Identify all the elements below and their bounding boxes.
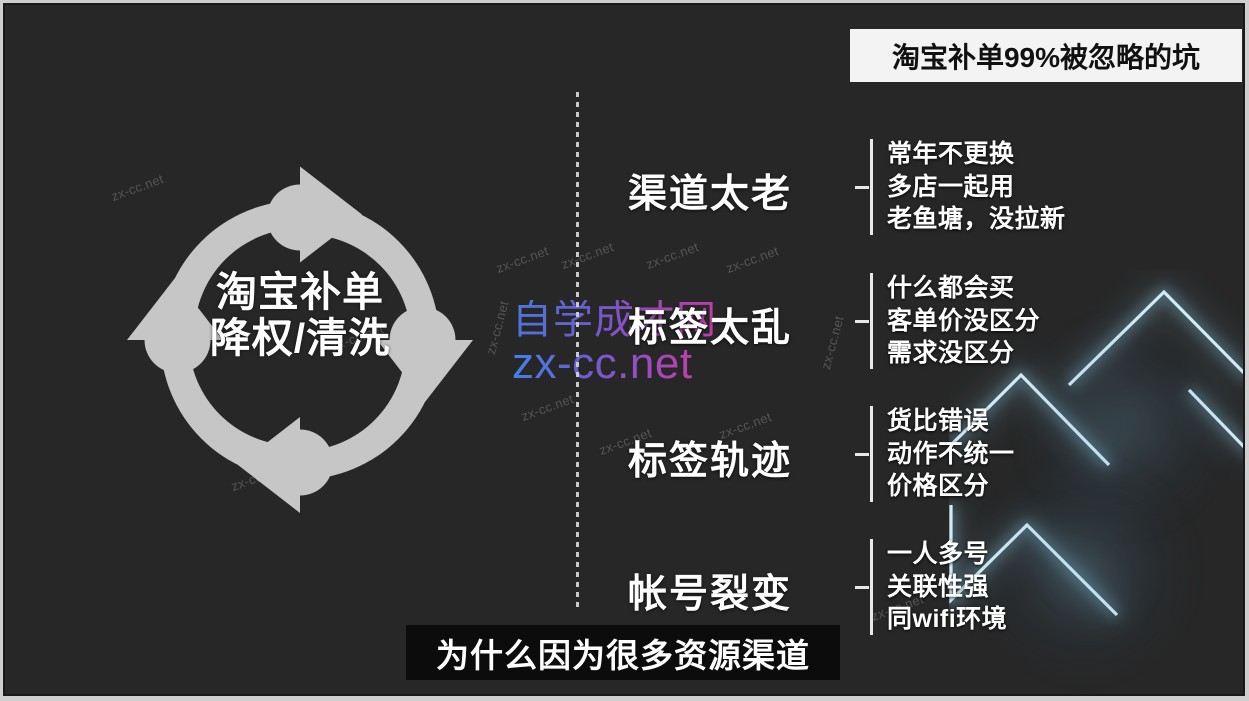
watermark-tile: zx-cc.net <box>559 239 616 272</box>
slide-canvas: zx-cc.netzx-cc.netzx-cc.netzx-cc.netzx-c… <box>0 0 1249 701</box>
detail-line-1: 什么都会买 <box>887 272 1040 305</box>
category-label-4: 帐号裂变 <box>628 563 792 619</box>
bracket-icon <box>855 539 877 635</box>
detail-group-2: 什么都会买客单价没区分需求没区分 <box>855 272 1040 370</box>
detail-group-3: 货比错误动作不统一价格区分 <box>855 405 1015 503</box>
detail-line-2: 动作不统一 <box>887 438 1015 471</box>
frame-right-edge <box>1245 0 1249 701</box>
detail-line-1: 一人多号 <box>887 538 1007 571</box>
category-label-1: 渠道太老 <box>628 163 792 219</box>
detail-group-4: 一人多号关联性强同wifi环境 <box>855 538 1007 636</box>
watermark-tile: zx-cc.net <box>494 243 551 276</box>
category-label-2: 标签太乱 <box>628 297 792 353</box>
detail-line-1: 常年不更换 <box>887 138 1066 171</box>
detail-lines: 一人多号关联性强同wifi环境 <box>887 538 1007 636</box>
cycle-diagram: 淘宝补单 降权/清洗 <box>100 140 500 540</box>
caption-text: 为什么因为很多资源渠道 <box>436 629 810 677</box>
title-banner: 淘宝补单99%被忽略的坑 <box>850 29 1242 82</box>
detail-line-3: 需求没区分 <box>887 337 1040 370</box>
detail-line-1: 货比错误 <box>887 405 1015 438</box>
detail-lines: 常年不更换多店一起用老鱼塘，没拉新 <box>887 138 1066 236</box>
detail-line-3: 价格区分 <box>887 470 1015 503</box>
watermark-tile: zx-cc.net <box>519 391 576 424</box>
cycle-label-line-2: 降权/清洗 <box>100 316 500 362</box>
cycle-center-label: 淘宝补单 降权/清洗 <box>100 270 500 362</box>
caption-bar: 为什么因为很多资源渠道 <box>406 625 840 680</box>
detail-line-2: 关联性强 <box>887 571 1007 604</box>
dotted-divider <box>576 92 579 612</box>
detail-line-2: 多店一起用 <box>887 171 1066 204</box>
bracket-icon <box>855 406 877 502</box>
watermark-tile: zx-cc.net <box>724 243 781 276</box>
category-label-3: 标签轨迹 <box>628 430 792 486</box>
frame-top-edge <box>0 0 1249 3</box>
page-title: 淘宝补单99%被忽略的坑 <box>892 36 1200 76</box>
bracket-icon <box>855 273 877 369</box>
frame-left-edge <box>0 0 3 701</box>
detail-line-2: 客单价没区分 <box>887 305 1040 338</box>
watermark-tile: zx-cc.net <box>644 239 701 272</box>
detail-lines: 货比错误动作不统一价格区分 <box>887 405 1015 503</box>
watermark-tile: zx-cc.net <box>818 314 847 371</box>
bracket-icon <box>855 139 877 235</box>
cycle-label-line-1: 淘宝补单 <box>100 270 500 316</box>
detail-line-3: 同wifi环境 <box>887 603 1007 636</box>
detail-group-1: 常年不更换多店一起用老鱼塘，没拉新 <box>855 138 1066 236</box>
detail-line-3: 老鱼塘，没拉新 <box>887 203 1066 236</box>
detail-lines: 什么都会买客单价没区分需求没区分 <box>887 272 1040 370</box>
frame-bottom-edge <box>0 696 1249 701</box>
